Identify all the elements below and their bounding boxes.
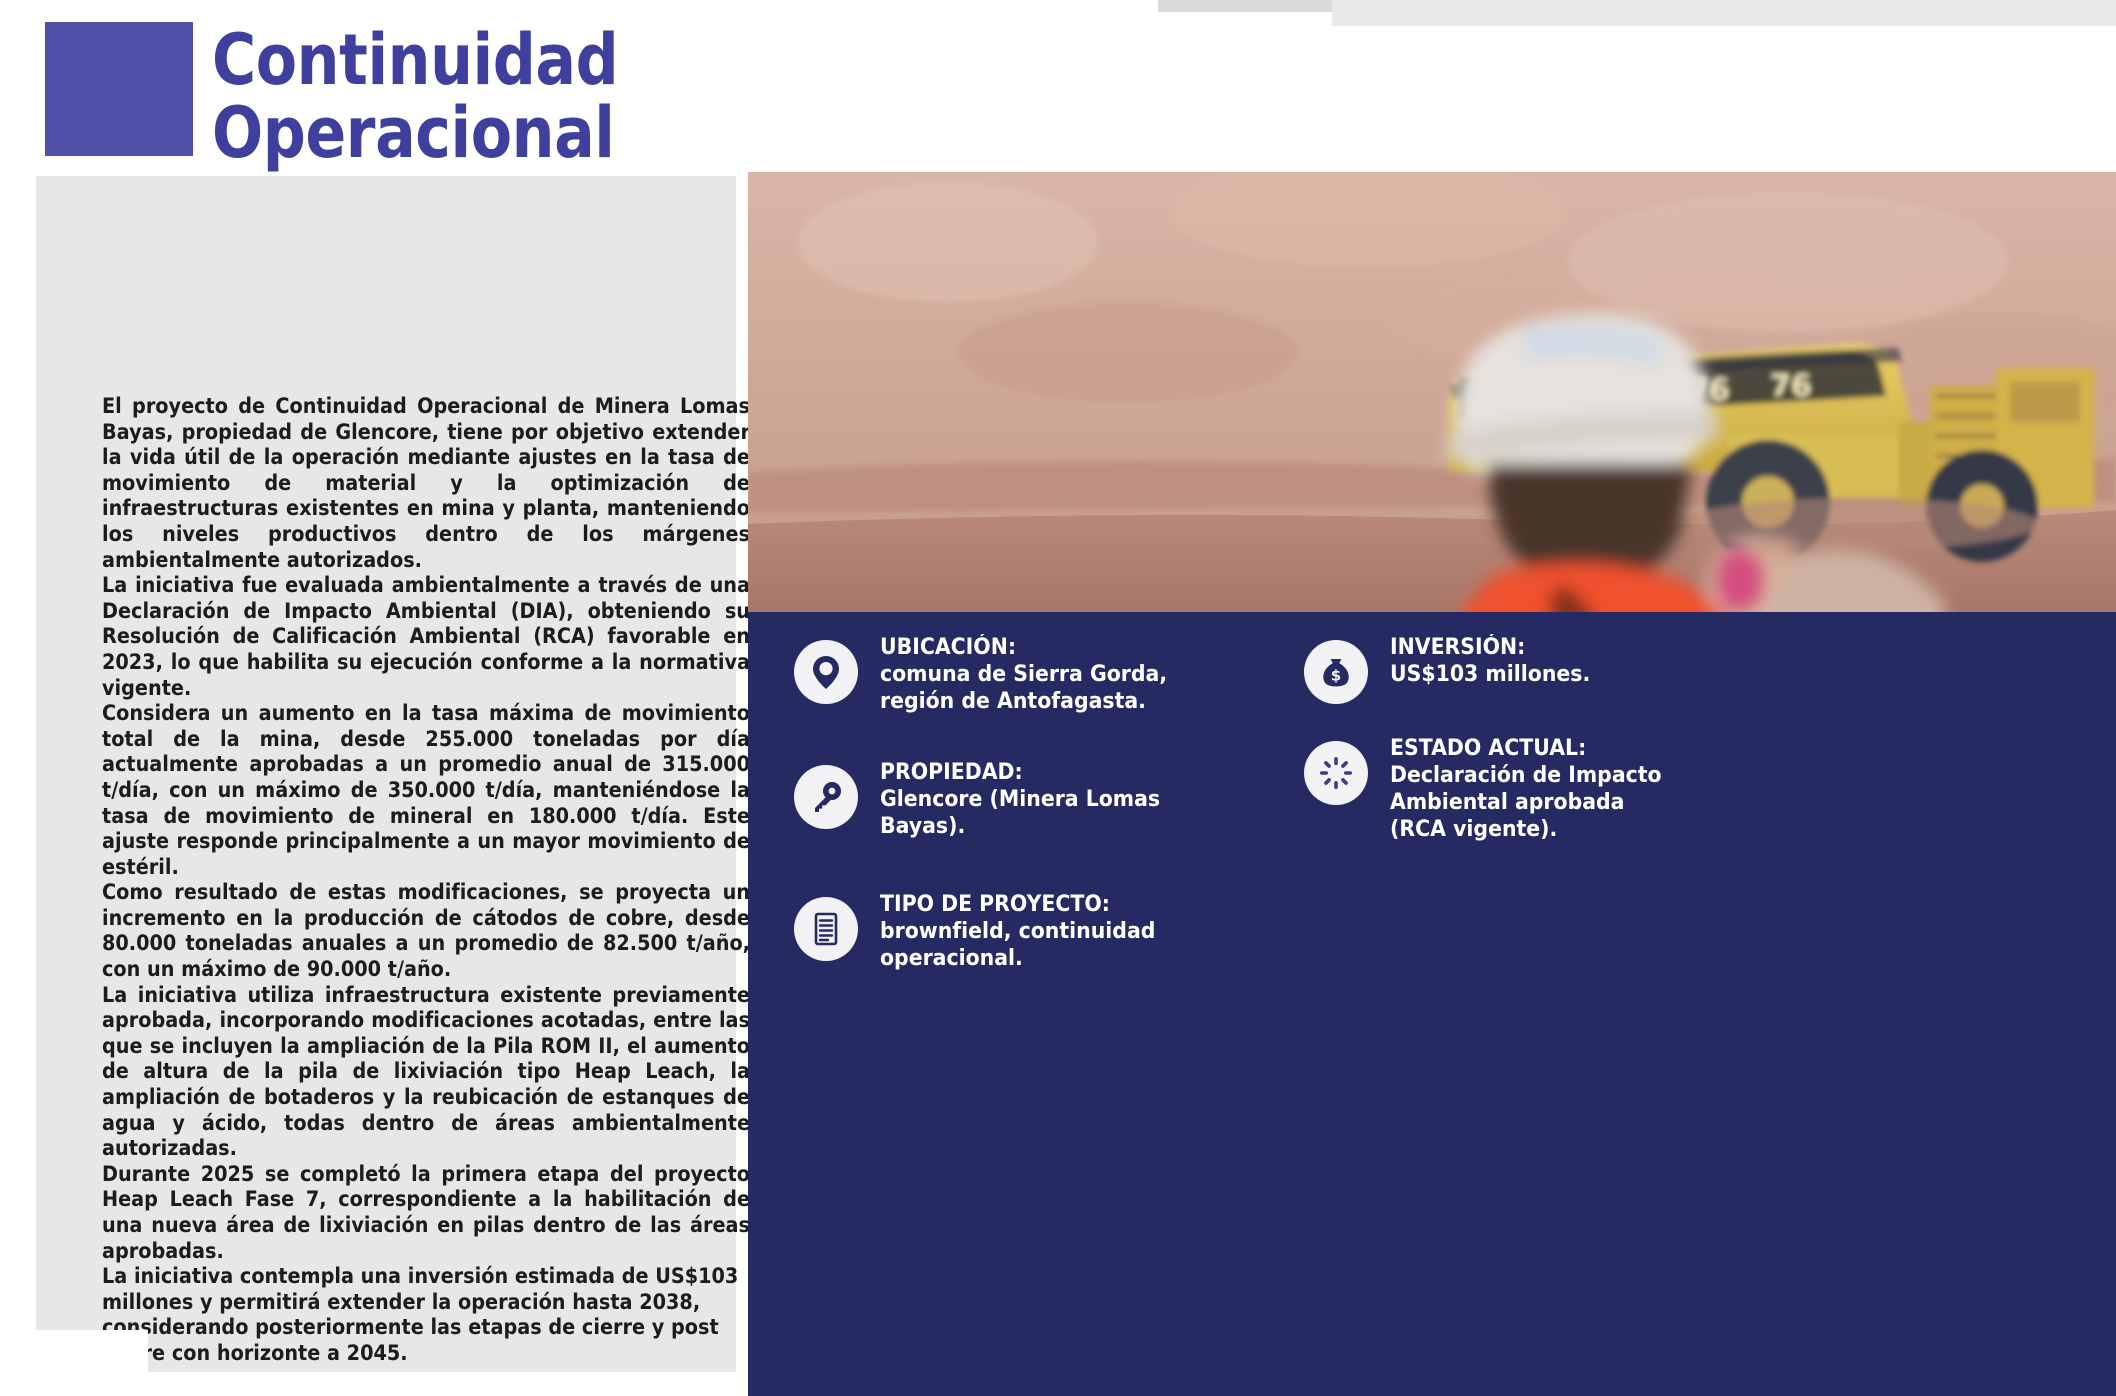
top-decorative-strip-secondary [1332, 0, 2116, 26]
fact-text: INVERSIÓN: US$103 millones. [1390, 634, 1747, 688]
paragraph: La iniciativa utiliza infraestructura ex… [102, 983, 750, 1162]
paragraph: La iniciativa contempla una inversión es… [102, 1264, 750, 1366]
fact-label: ESTADO ACTUAL: [1390, 735, 1747, 762]
fact-label: UBICACIÓN: [880, 634, 1237, 661]
fact-value: brownfield, continuidad operacional. [880, 918, 1237, 972]
panel-bottom-gap [148, 1372, 748, 1396]
fact-label: PROPIEDAD: [880, 759, 1237, 786]
photo-illustration: 76 76 [748, 172, 2116, 612]
spinner-icon [1304, 741, 1368, 805]
panel-corner-notch [36, 1330, 148, 1396]
project-photo: 76 76 [748, 172, 2116, 612]
svg-text:76: 76 [1770, 369, 1812, 404]
project-facts-grid: UBICACIÓN: comuna de Sierra Gorda, regió… [794, 634, 2094, 972]
fact-text: TIPO DE PROYECTO: brownfield, continuida… [880, 891, 1237, 972]
fact-label: INVERSIÓN: [1390, 634, 1747, 661]
fact-value: Glencore (Minera Lomas Bayas). [880, 786, 1237, 840]
fact-label: TIPO DE PROYECTO: [880, 891, 1237, 918]
paragraph: Considera un aumento en la tasa máxima d… [102, 701, 750, 880]
description-panel: El proyecto de Continuidad Operacional d… [36, 176, 736, 1372]
paragraph: Como resultado de estas modificaciones, … [102, 880, 750, 982]
header-accent-block [45, 22, 193, 156]
description-text-container: El proyecto de Continuidad Operacional d… [102, 394, 750, 1367]
fact-propiedad: PROPIEDAD: Glencore (Minera Lomas Bayas)… [794, 759, 1264, 843]
document-icon [794, 897, 858, 961]
fact-inversion: $ INVERSIÓN: US$103 millones. [1304, 634, 1774, 715]
location-pin-icon [794, 640, 858, 704]
fact-value: US$103 millones. [1390, 661, 1747, 688]
fact-estado-actual: ESTADO ACTUAL: Declaración de Impacto Am… [1304, 735, 1774, 843]
fact-value: comuna de Sierra Gorda, región de Antofa… [880, 661, 1237, 715]
fact-tipo-proyecto: TIPO DE PROYECTO: brownfield, continuida… [794, 891, 1264, 972]
svg-text:$: $ [1331, 667, 1341, 685]
fact-value: Declaración de Impacto Ambiental aprobad… [1390, 762, 1747, 843]
paragraph: La iniciativa fue evaluada ambientalment… [102, 573, 750, 701]
fact-text: ESTADO ACTUAL: Declaración de Impacto Am… [1390, 735, 1747, 843]
project-facts-panel: UBICACIÓN: comuna de Sierra Gorda, regió… [748, 612, 2116, 1396]
fact-ubicacion: UBICACIÓN: comuna de Sierra Gorda, regió… [794, 634, 1264, 715]
paragraph: Durante 2025 se completó la primera etap… [102, 1162, 750, 1264]
fact-text: PROPIEDAD: Glencore (Minera Lomas Bayas)… [880, 759, 1237, 840]
fact-text: UBICACIÓN: comuna de Sierra Gorda, regió… [880, 634, 1237, 715]
money-bag-icon: $ [1304, 640, 1368, 704]
paragraph: El proyecto de Continuidad Operacional d… [102, 394, 750, 573]
key-icon [794, 765, 858, 829]
